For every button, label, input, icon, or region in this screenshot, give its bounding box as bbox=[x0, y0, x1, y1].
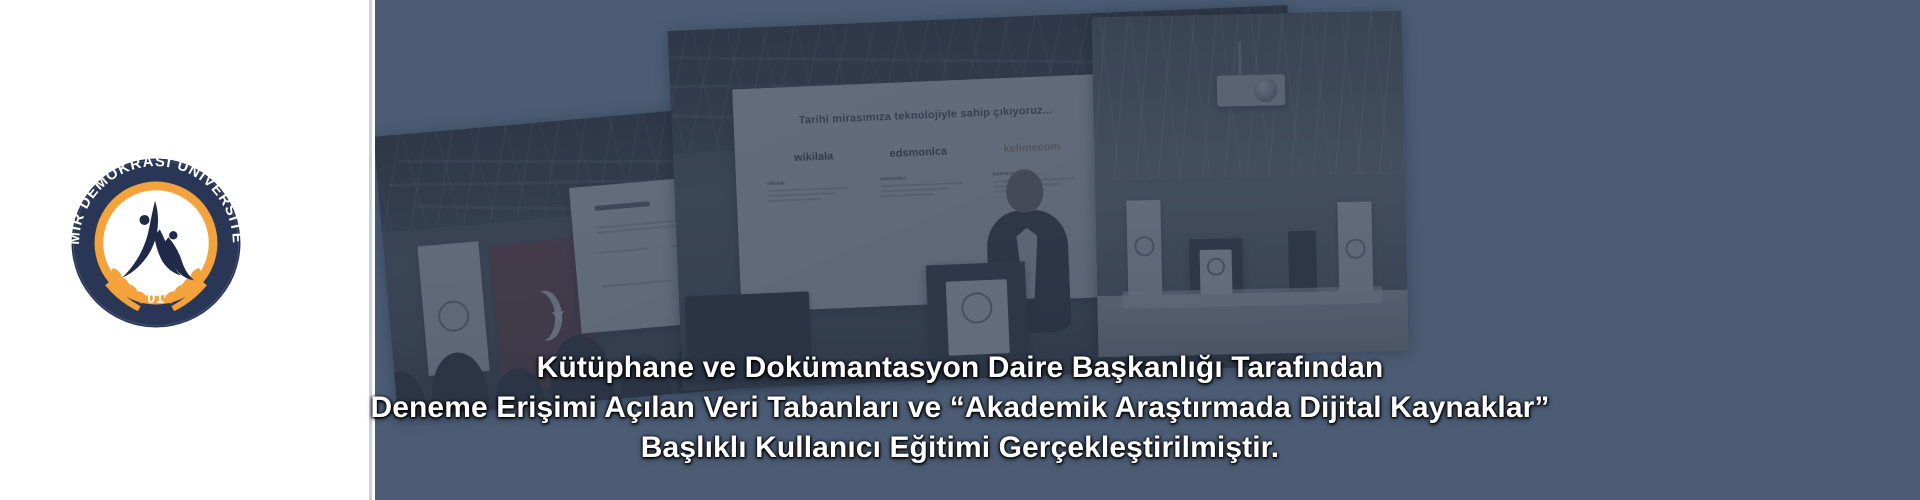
slide-logo-wikilala: wikilala bbox=[794, 150, 834, 164]
slide-column-heading: kelimecom bbox=[993, 167, 1090, 177]
banner-root: İZMİR DEMOKRASİ ÜNİVERSİTESİ 2016 bbox=[0, 0, 1920, 500]
university-logo-svg: İZMİR DEMOKRASİ ÜNİVERSİTESİ 2016 bbox=[60, 147, 252, 339]
university-logo: İZMİR DEMOKRASİ ÜNİVERSİTESİ 2016 bbox=[60, 147, 252, 339]
slide-logo-edsmonlca: edsmonlca bbox=[889, 145, 947, 159]
slide-title-text: Tarihi mirasımıza teknolojiyle sahip çık… bbox=[798, 104, 1052, 127]
collage-photo-right bbox=[1091, 11, 1408, 357]
logo-panel: İZMİR DEMOKRASİ ÜNİVERSİTESİ 2016 bbox=[0, 0, 372, 500]
slide-column-heading: edsmonlca bbox=[880, 172, 977, 182]
slide-column-heading: wikilala bbox=[767, 177, 864, 187]
banner-panel: Tarihi mirasımıza teknolojiyle sahip çık… bbox=[375, 0, 1920, 500]
slide-logo-kelimecom: kelimecom bbox=[1003, 140, 1060, 154]
